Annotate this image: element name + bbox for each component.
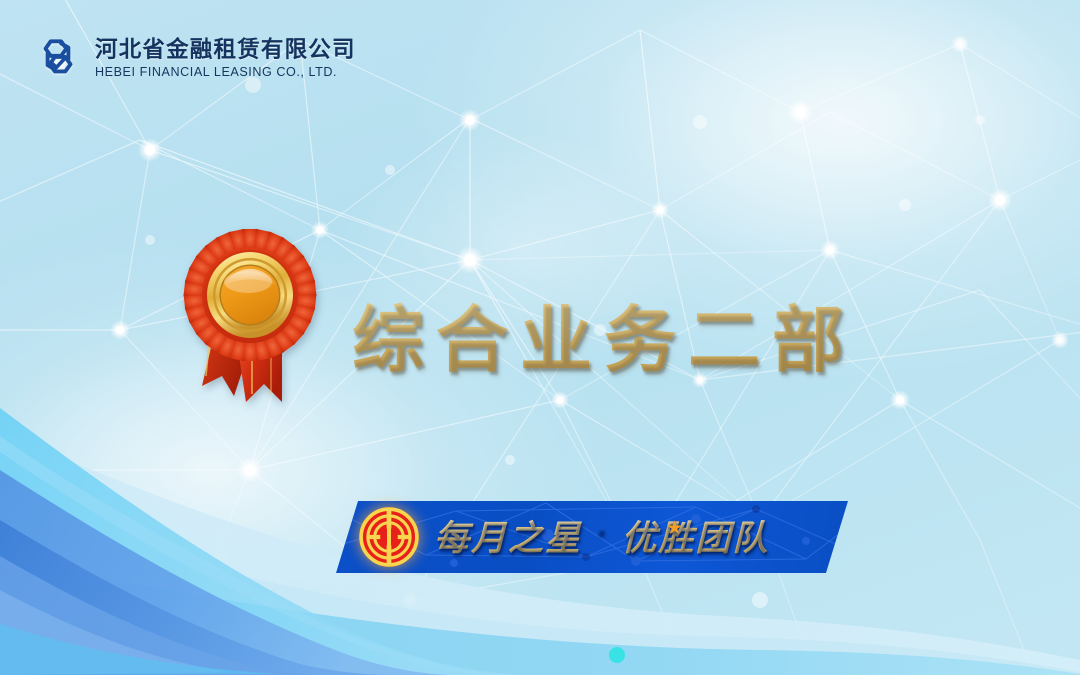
banner-content: 每月之星 · 优胜团队 ★	[336, 501, 848, 573]
award-rosette-ribbon	[176, 226, 324, 408]
acftu-union-emblem	[358, 506, 420, 568]
banner-segment-winning-team: 优胜团队	[621, 510, 769, 561]
banner-segment-star-of-the-month: 每月之星	[434, 510, 582, 561]
page-title: 综合业务二部	[352, 281, 856, 386]
star-icon: ★	[666, 519, 685, 538]
company-name-cn: 河北省金融租赁有限公司	[95, 39, 356, 62]
hebei-financial-leasing-logo-mark	[32, 33, 84, 85]
logo-text-block: 河北省金融租赁有限公司 HEBEI FINANCIAL LEASING CO.,…	[95, 39, 356, 78]
banner-separator-dot: ·	[595, 515, 608, 550]
banner-text: 每月之星 · 优胜团队 ★	[434, 510, 769, 561]
company-logo: 河北省金融租赁有限公司 HEBEI FINANCIAL LEASING CO.,…	[32, 33, 356, 85]
slide-canvas: 河北省金融租赁有限公司 HEBEI FINANCIAL LEASING CO.,…	[0, 0, 1080, 675]
company-name-en: HEBEI FINANCIAL LEASING CO., LTD.	[95, 66, 356, 79]
award-banner: 每月之星 · 优胜团队 ★	[336, 501, 848, 573]
